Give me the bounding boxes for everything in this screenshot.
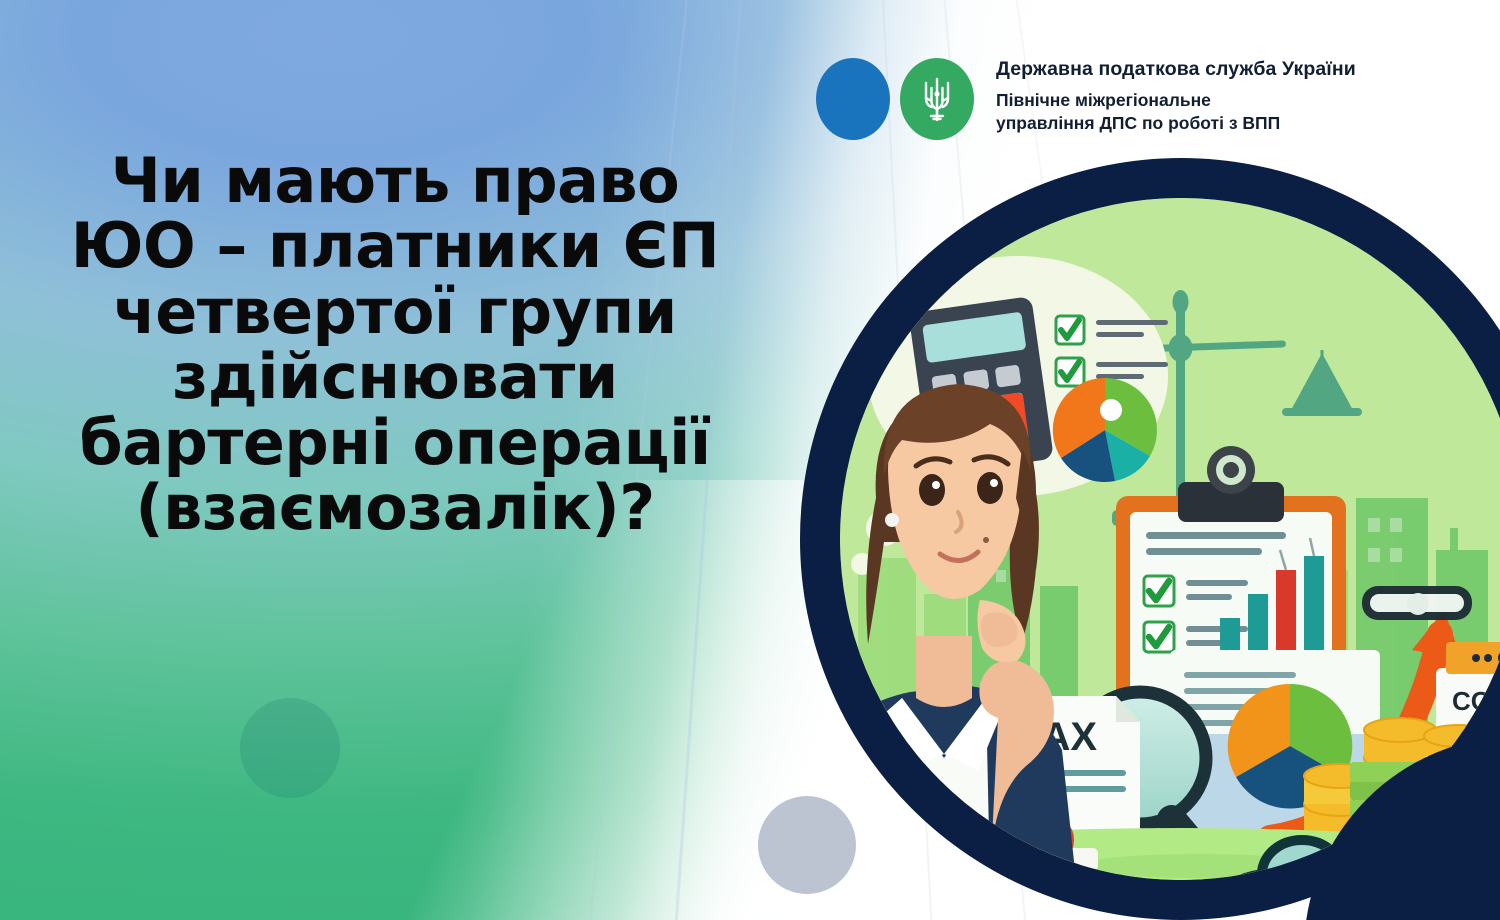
headline-line-4: здійснювати [0,344,790,409]
tryzub-emblem-icon [900,58,974,140]
org-name-line-1: Державна податкова служба України [996,58,1356,80]
gavel-block [1362,586,1472,620]
headline: Чи мають право ЮО – платники ЄП четверто… [0,148,790,540]
organization-text: Державна податкова служба України Північ… [996,52,1356,134]
blue-dot-icon [816,58,890,140]
organization-header: Державна податкова служба України Північ… [816,52,1356,144]
headline-line-3: четвертої групи [0,279,790,344]
bubble-pie-chart [1053,378,1157,482]
org-name-line-2: Північне міжрегіональне управління ДПС п… [996,89,1356,134]
headline-line-1: Чи мають право [0,148,790,213]
headline-line-2: ЮО – платники ЄП [0,213,790,278]
poster-canvas: Державна податкова служба України Північ… [0,0,1500,920]
logo-marks [816,52,974,144]
decorative-circle-teal [240,698,340,798]
org-name-line-2a: Північне міжрегіональне [996,89,1356,111]
headline-line-6: (взаємозалік)? [0,475,790,540]
headline-line-5: бартерні операції [0,410,790,475]
contract-label: CONTRACT [1452,686,1500,716]
org-name-line-2b: управління ДПС по роботі з ВПП [996,112,1356,134]
